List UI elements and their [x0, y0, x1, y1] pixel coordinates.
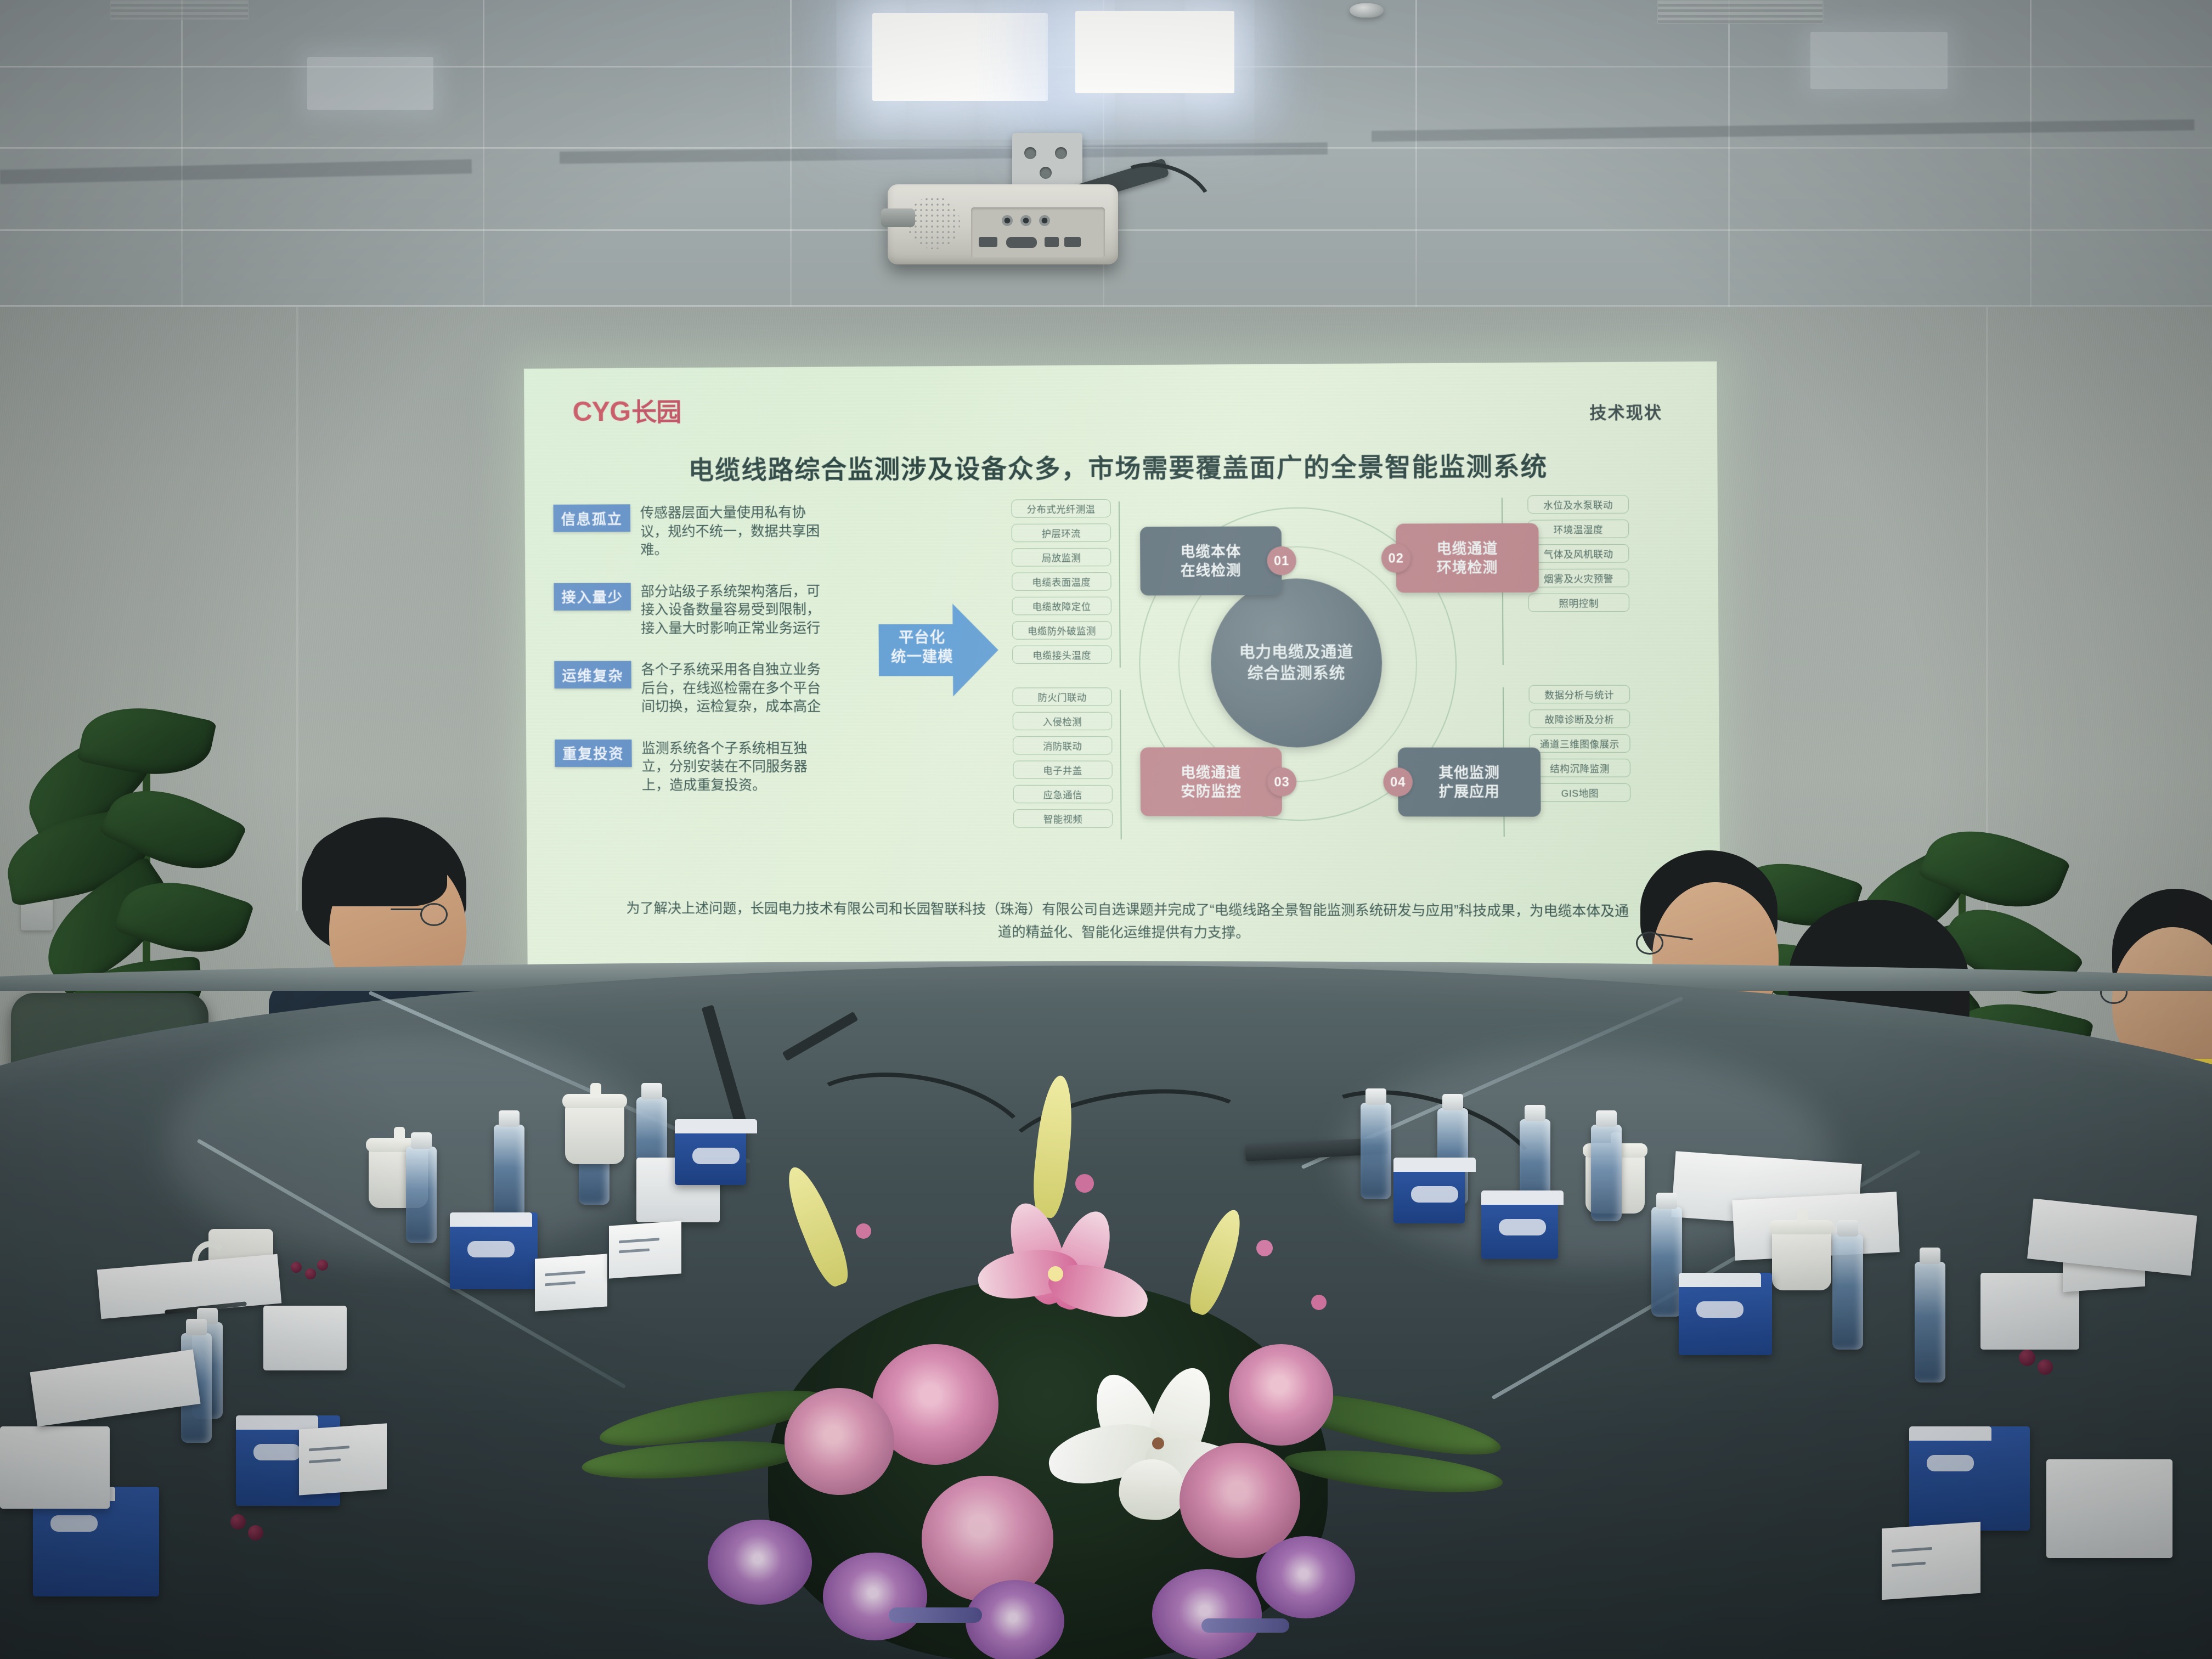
slide-title: 电缆线路综合监测涉及设备众多，市场需要覆盖面广的全景智能监测系统 [524, 445, 1718, 487]
projector-av-port [1002, 215, 1013, 226]
tag-item: 数据分析与统计 [1529, 685, 1630, 704]
tag-column-security: 防火门联动 入侵检测 消防联动 电子井盖 应急通信 智能视频 [1013, 687, 1113, 834]
floral-centerpiece [582, 1059, 1514, 1659]
issue-badge: 重复投资 [555, 740, 632, 767]
quadrant-line-2: 环境检测 [1437, 558, 1498, 577]
projector-speaker-grille [907, 196, 960, 249]
air-vent [1657, 0, 1824, 24]
projector-port-panel [971, 207, 1105, 258]
grape [2019, 1350, 2035, 1366]
tag-item: 电缆接头温度 [1012, 646, 1111, 664]
arrow-label: 平台化 统一建模 [883, 628, 961, 667]
grape [248, 1525, 263, 1541]
tissue-box[interactable] [2046, 1459, 2172, 1558]
issue-row: 运维复杂 各个子系统采用各自独立业务后台，在线巡检需在多个平台间切换，运检复杂，… [554, 661, 841, 716]
projector-vga-port [1006, 237, 1037, 248]
flower-purple-orchid [823, 1553, 927, 1640]
air-vent [110, 0, 249, 20]
tag-item: 水位及水泵联动 [1527, 495, 1629, 513]
tag-item: 气体及风机联动 [1528, 544, 1629, 563]
quadrant-line-1: 电缆本体 [1181, 542, 1242, 561]
tag-column-cable-body: 分布式光纤测温 护层环流 局放监测 电缆表面温度 电缆故障定位 电缆防外破监测 … [1011, 499, 1111, 670]
tag-item: 消防联动 [1013, 736, 1112, 754]
grape [305, 1268, 316, 1279]
tag-item: 局放监测 [1012, 548, 1111, 567]
quadrant-number-badge: 01 [1267, 546, 1296, 575]
ceiling-light-panel [307, 57, 433, 110]
tissue-box[interactable] [450, 1212, 538, 1289]
issue-row: 接入量少 部分站级子系统架构落后，可接入设备数量容易受到限制，接入量大时影响正常… [554, 582, 840, 638]
tag-item: 电缆故障定位 [1012, 597, 1111, 616]
tag-column-environment: 水位及水泵联动 环境温湿度 气体及风机联动 烟雾及火灾预警 照明控制 [1527, 495, 1629, 618]
grape [2038, 1359, 2053, 1375]
grape [317, 1260, 328, 1271]
flower-purple-orchid [1152, 1569, 1262, 1659]
tag-item: 电缆表面温度 [1012, 572, 1111, 591]
flower-pink-rose [1229, 1344, 1333, 1446]
cyg-logo: CYG长园 [572, 392, 681, 428]
quadrant-line-2: 安防监控 [1181, 782, 1242, 801]
tag-item: 故障诊断及分析 [1529, 709, 1630, 728]
logo-chinese-text: 长园 [631, 397, 681, 426]
slide-section-label: 技术现状 [1589, 399, 1662, 424]
grape [291, 1262, 302, 1273]
issue-list: 信息孤立 传感器层面大量使用私有协议，规约不统一，数据共享困难。 接入量少 部分… [554, 504, 842, 818]
issue-badge: 接入量少 [554, 583, 631, 610]
tag-item: 照明控制 [1528, 593, 1629, 612]
issue-text: 部分站级子系统架构落后，可接入设备数量容易受到限制，接入量大时影响正常业务运行 [641, 582, 832, 638]
tissue-box[interactable] [0, 1426, 110, 1509]
ceiling-projector [888, 184, 1118, 264]
logo-latin-text: CYG [572, 396, 630, 427]
water-bottle[interactable] [1591, 1125, 1622, 1221]
quadrant-box-01: 电缆本体 在线检测 01 [1140, 526, 1282, 595]
tag-item: 护层环流 [1012, 523, 1111, 542]
lidded-teacup[interactable] [1772, 1229, 1831, 1290]
arrow-label-line1: 平台化 [883, 628, 961, 648]
flower-yellow-calla [1183, 1205, 1249, 1318]
tag-item: 烟雾及火灾预警 [1528, 569, 1629, 588]
flower-yellow-calla [778, 1162, 855, 1291]
place-name-card [1882, 1522, 1980, 1600]
water-bottle[interactable] [1832, 1234, 1863, 1350]
projector-usb-port [1045, 237, 1059, 247]
projector-lan-port [1064, 237, 1081, 247]
issue-row: 信息孤立 传感器层面大量使用私有协议，规约不统一，数据共享困难。 [554, 504, 840, 560]
projector-av-port [1020, 215, 1031, 226]
flower-yellow-calla [1030, 1074, 1077, 1220]
tag-item: 分布式光纤测温 [1011, 499, 1110, 518]
issue-row: 重复投资 监测系统各个子系统相互独立，分别安装在不同服务器上，造成重复投资。 [555, 740, 842, 795]
tag-item: GIS地图 [1530, 783, 1631, 802]
ceiling-light-panel [1810, 32, 1948, 89]
tissue-box[interactable] [263, 1306, 347, 1370]
tag-item: 入侵检测 [1013, 712, 1112, 730]
conference-room-scene: CYG长园 技术现状 电缆线路综合监测涉及设备众多，市场需要覆盖面广的全景智能监… [0, 0, 2212, 1659]
smoke-detector-icon [1350, 3, 1384, 18]
diagram-hub: 电力电缆及通道 综合监测系统 [1210, 578, 1383, 747]
quadrant-number-badge: 02 [1381, 544, 1411, 573]
flower-purple-orchid [708, 1520, 812, 1605]
tag-item: 应急通信 [1013, 785, 1113, 804]
quadrant-line-2: 扩展应用 [1438, 782, 1500, 801]
platform-arrow: 平台化 统一建模 [878, 603, 998, 696]
ceiling-light-panel [872, 13, 1048, 101]
tag-item: 智能视频 [1013, 809, 1113, 828]
projector-lens [881, 208, 915, 227]
tag-item: 环境温湿度 [1528, 520, 1629, 538]
grape [230, 1514, 246, 1530]
projection-screen: CYG长园 技术现状 电缆线路综合监测涉及设备众多，市场需要覆盖面广的全景智能监… [524, 362, 1720, 975]
tissue-box[interactable] [1909, 1426, 2030, 1531]
flower-purple-orchid [1256, 1536, 1355, 1618]
flower-pink-lily [966, 1201, 1158, 1366]
water-bottle[interactable] [494, 1125, 524, 1221]
tissue-box[interactable] [1679, 1273, 1772, 1355]
tag-item: 通道三维图像展示 [1529, 734, 1630, 753]
quadrant-number-badge: 04 [1383, 768, 1413, 797]
issue-text: 监测系统各个子系统相互独立，分别安装在不同服务器上，造成重复投资。 [641, 740, 832, 795]
tag-item: 电缆防外破监测 [1012, 621, 1111, 640]
issue-text: 传感器层面大量使用私有协议，规约不统一，数据共享困难。 [640, 504, 831, 560]
presenter-glasses-arm [391, 909, 422, 910]
flower-pink-rose [785, 1388, 894, 1495]
quadrant-number-badge: 03 [1267, 768, 1297, 797]
quadrant-box-04: 其他监测 扩展应用 04 [1398, 748, 1541, 817]
water-bottle[interactable] [406, 1147, 437, 1243]
projector-hdmi-port [979, 237, 997, 247]
presenter-glasses-icon [420, 903, 448, 926]
ceiling-light-panel [1075, 11, 1234, 93]
tag-item: 防火门联动 [1013, 687, 1112, 706]
tag-item: 电子井盖 [1013, 760, 1112, 778]
hub-line-2: 综合监测系统 [1248, 663, 1346, 684]
quadrant-box-03: 电缆通道 安防监控 03 [1140, 747, 1282, 816]
ceiling [0, 0, 2212, 329]
issue-badge: 运维复杂 [554, 661, 631, 689]
tag-item: 结构沉降监测 [1529, 759, 1630, 777]
quadrant-line-1: 其他监测 [1438, 763, 1500, 782]
place-name-card [299, 1423, 387, 1495]
quadrant-line-1: 电缆通道 [1181, 763, 1242, 782]
water-bottle[interactable] [1651, 1207, 1682, 1317]
issue-text: 各个子系统采用各自独立业务后台，在线巡检需在多个平台间切换，运检复杂，成本高企 [641, 661, 832, 716]
tag-column-extended: 数据分析与统计 故障诊断及分析 通道三维图像展示 结构沉降监测 GIS地图 [1529, 685, 1631, 808]
arrow-label-line2: 统一建模 [883, 647, 961, 667]
hub-line-1: 电力电缆及通道 [1239, 642, 1354, 663]
slide-footer-text: 为了解决上述问题，长园电力技术有限公司和长园智联科技（珠海）有限公司自选课题并完… [620, 898, 1635, 946]
water-bottle[interactable] [1915, 1262, 1945, 1383]
projector-av-port [1039, 215, 1050, 226]
quadrant-line-1: 电缆通道 [1437, 539, 1498, 558]
quadrant-line-2: 在线检测 [1181, 561, 1242, 580]
issue-badge: 信息孤立 [554, 504, 631, 532]
quadrant-box-02: 电缆通道 环境检测 02 [1396, 523, 1539, 593]
